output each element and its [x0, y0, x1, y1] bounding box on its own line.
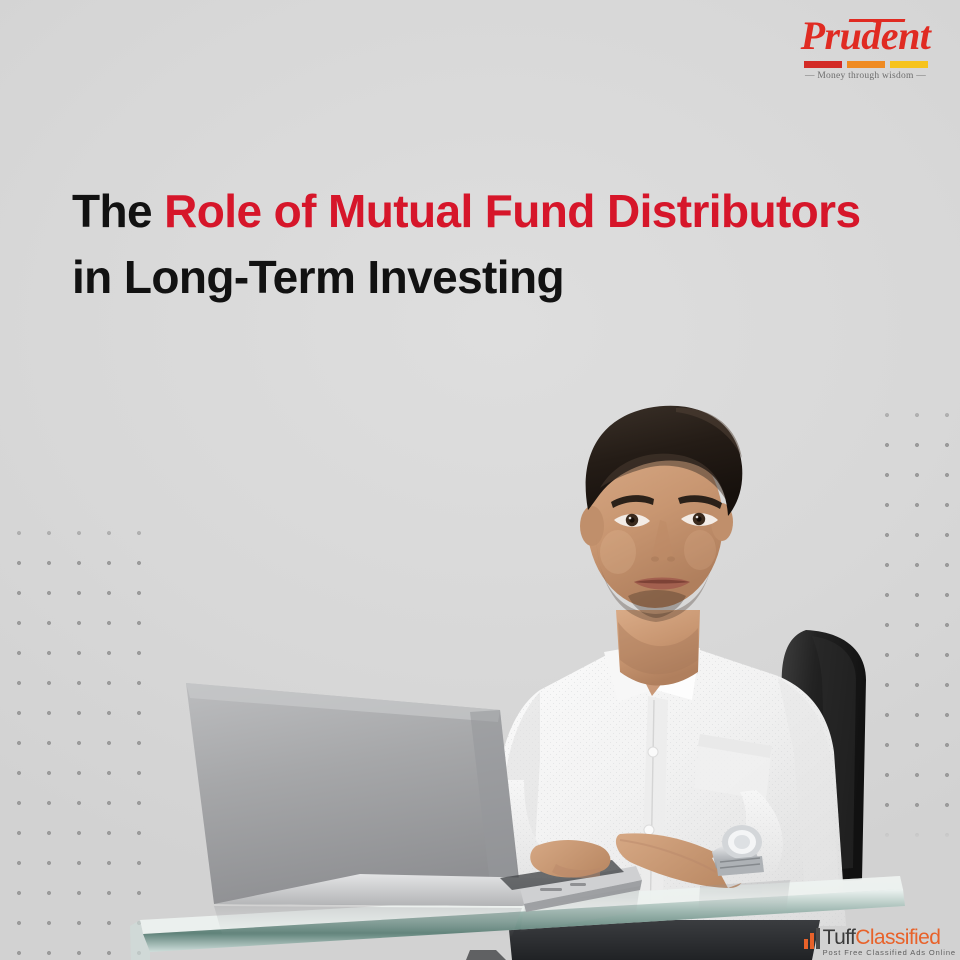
- logo-wordmark: Prudent: [793, 16, 938, 56]
- headline-block: The Role of Mutual Fund Distributors in …: [72, 178, 902, 310]
- watermark-name-part1: Tuff: [823, 926, 856, 949]
- bar-2: [810, 933, 814, 949]
- tuffclassified-watermark: TuffClassified Post Free Classified Ads …: [804, 927, 956, 957]
- logo-bar-red: [804, 61, 842, 68]
- hero-photo: [0, 360, 960, 960]
- logo-color-bars: [793, 61, 938, 68]
- bar-3: [816, 928, 820, 949]
- headline-line-1: The Role of Mutual Fund Distributors: [72, 178, 902, 244]
- prudent-logo: Prudent — Money through wisdom —: [793, 16, 938, 82]
- headline-prefix: The: [72, 185, 164, 237]
- watermark-text: TuffClassified Post Free Classified Ads …: [823, 927, 956, 957]
- logo-bar-yellow: [890, 61, 928, 68]
- headline-line-2: in Long-Term Investing: [72, 244, 902, 310]
- headline-accent: Role of Mutual Fund Distributors: [164, 185, 860, 237]
- watermark-tagline: Post Free Classified Ads Online: [823, 949, 956, 957]
- poster-canvas: Prudent — Money through wisdom — The Rol…: [0, 0, 960, 960]
- watermark-name: TuffClassified: [823, 926, 941, 949]
- watermark-name-part2: Classified: [855, 926, 940, 949]
- person-head: [580, 406, 742, 686]
- logo-bar-orange: [847, 61, 885, 68]
- logo-overline-stroke: [849, 19, 906, 22]
- bar-1: [804, 939, 808, 949]
- logo-tagline: — Money through wisdom —: [793, 72, 938, 82]
- bar-chart-icon: [804, 927, 820, 956]
